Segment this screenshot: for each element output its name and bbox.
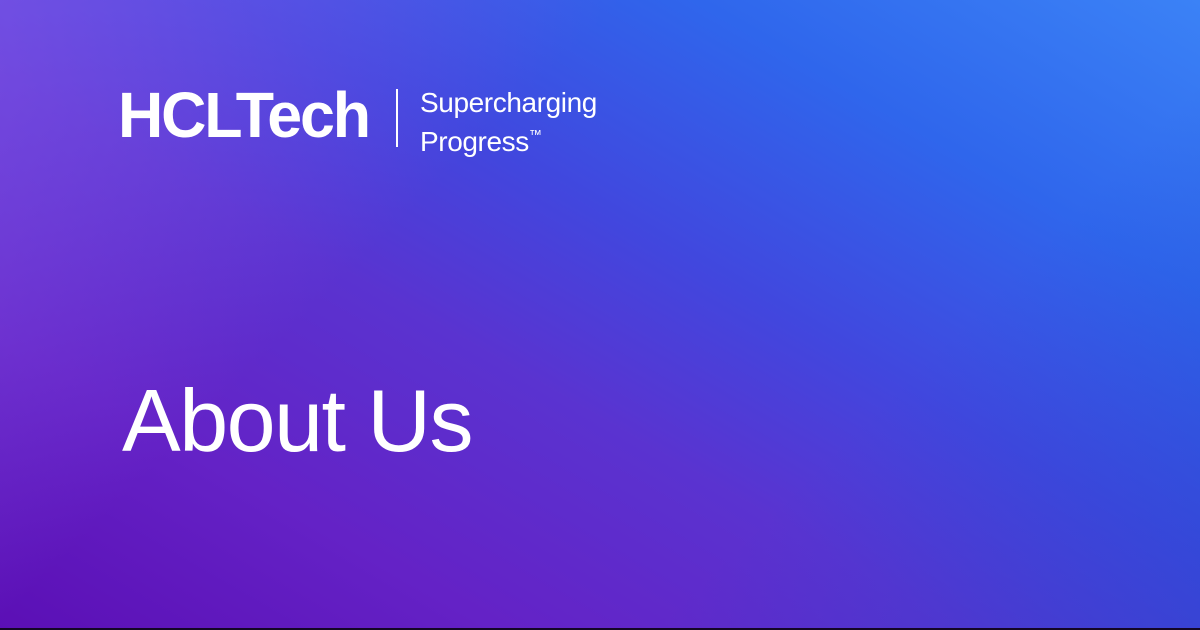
logo-divider (396, 89, 398, 147)
tagline-line-2: Progress™ (420, 119, 597, 158)
tagline-line-2-text: Progress (420, 126, 529, 157)
hcltech-about-us-banner: HCLTech Supercharging Progress™ About Us (0, 0, 1200, 630)
hcltech-tagline: Supercharging Progress™ (420, 87, 597, 158)
hcltech-logo[interactable]: HCLTech Supercharging Progress™ (118, 82, 597, 158)
tagline-line-1: Supercharging (420, 87, 597, 119)
hcltech-wordmark: HCLTech (118, 82, 369, 148)
page-title: About Us (122, 371, 472, 471)
trademark-icon: ™ (529, 127, 542, 142)
